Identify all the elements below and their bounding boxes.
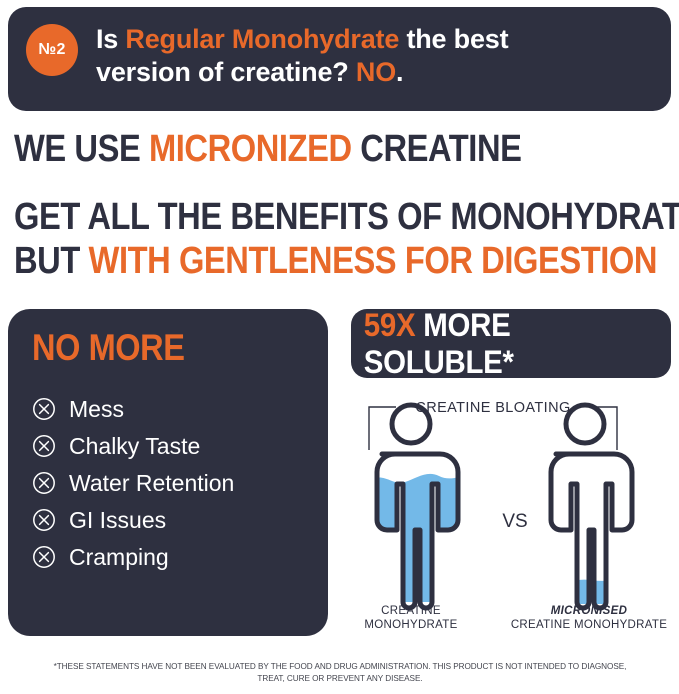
- list-item-label: Cramping: [69, 543, 169, 571]
- disclaimer: *THESE STATEMENTS HAVE NOT BEEN EVALUATE…: [40, 661, 640, 685]
- headline-line-2: GET ALL THE BENEFITS OF MONOHYDRATE,: [14, 195, 582, 239]
- question-line1-pre: Is: [96, 24, 125, 54]
- list-item-label: Water Retention: [69, 469, 234, 497]
- bracket-label: CREATINE BLOATING: [415, 400, 570, 416]
- x-circle-icon: [32, 545, 56, 569]
- headline-line1-post: CREATINE: [352, 128, 522, 170]
- question-answer-no: NO: [356, 57, 396, 87]
- list-item: Chalky Taste: [32, 432, 304, 460]
- soluble-banner: 59X MORE SOLUBLE*: [351, 309, 671, 378]
- disclaimer-line-1: *THESE STATEMENTS HAVE NOT BEEN EVALUATE…: [40, 661, 640, 673]
- headline-line-3: BUT WITH GENTLENESS FOR DIGESTION: [14, 239, 582, 283]
- right-figure-label-line2: CREATINE MONOHYDRATE: [511, 619, 667, 631]
- x-circle-icon: [32, 397, 56, 421]
- question-line1: Is Regular Monohydrate the best: [96, 24, 508, 54]
- step-number-badge: №2: [26, 24, 78, 76]
- headline-line1-highlight: MICRONIZED: [149, 128, 352, 170]
- question-banner: №2 Is Regular Monohydrate the best versi…: [8, 7, 671, 111]
- list-item: Water Retention: [32, 469, 304, 497]
- figure-body: [551, 454, 632, 608]
- x-circle-icon: [32, 508, 56, 532]
- left-figure-label-line2: MONOHYDRATE: [364, 619, 457, 631]
- figure-micronised-creatine-monohydrate: [545, 405, 643, 608]
- headline-block-2: GET ALL THE BENEFITS OF MONOHYDRATE, BUT…: [14, 195, 674, 283]
- list-item-label: Mess: [69, 395, 124, 423]
- list-item: Cramping: [32, 543, 304, 571]
- x-circle-icon: [32, 471, 56, 495]
- figure-creatine-monohydrate: [371, 405, 469, 608]
- no-more-list: Mess Chalky Taste Water Retention: [32, 395, 304, 571]
- headline-line1-pre: WE USE: [14, 128, 149, 170]
- headline-line3-highlight: WITH GENTLENESS FOR DIGESTION: [89, 240, 658, 282]
- right-figure-label-line1: MICRONISED: [551, 605, 627, 617]
- bloating-comparison-diagram: CREATINE BLOATING CREATINE MONOHYDRATE V…: [351, 392, 679, 642]
- list-item: GI Issues: [32, 506, 304, 534]
- list-item: Mess: [32, 395, 304, 423]
- no-more-panel: NO MORE Mess Chalky Taste: [8, 309, 328, 636]
- headline-line3-pre: BUT: [14, 240, 89, 282]
- x-circle-icon: [32, 434, 56, 458]
- question-line2-pre: version of creatine?: [96, 57, 356, 87]
- infographic-page: №2 Is Regular Monohydrate the best versi…: [0, 0, 679, 694]
- soluble-headline: 59X MORE SOLUBLE*: [364, 307, 658, 381]
- soluble-multiplier: 59X: [364, 307, 416, 343]
- question-line1-highlight: Regular Monohydrate: [125, 24, 399, 54]
- headline-block: WE USE MICRONIZED CREATINE GET ALL THE B…: [14, 127, 674, 283]
- versus-label: VS: [502, 511, 527, 532]
- figure-head: [566, 405, 604, 443]
- question-headline: Is Regular Monohydrate the best version …: [96, 23, 656, 89]
- question-line2: version of creatine? NO.: [96, 57, 403, 87]
- figure-head: [392, 405, 430, 443]
- left-figure-label-line1: CREATINE: [381, 605, 441, 617]
- headline-line-1: WE USE MICRONIZED CREATINE: [14, 127, 582, 171]
- bloating-diagram-svg: CREATINE BLOATING CREATINE MONOHYDRATE V…: [351, 392, 679, 642]
- question-line1-post: the best: [399, 24, 508, 54]
- list-item-label: GI Issues: [69, 506, 166, 534]
- no-more-title: NO MORE: [32, 327, 271, 369]
- step-number-label: №2: [38, 41, 65, 59]
- list-item-label: Chalky Taste: [69, 432, 200, 460]
- disclaimer-line-2: TREAT, CURE OR PREVENT ANY DISEASE.: [40, 673, 640, 685]
- question-line2-post: .: [396, 57, 403, 87]
